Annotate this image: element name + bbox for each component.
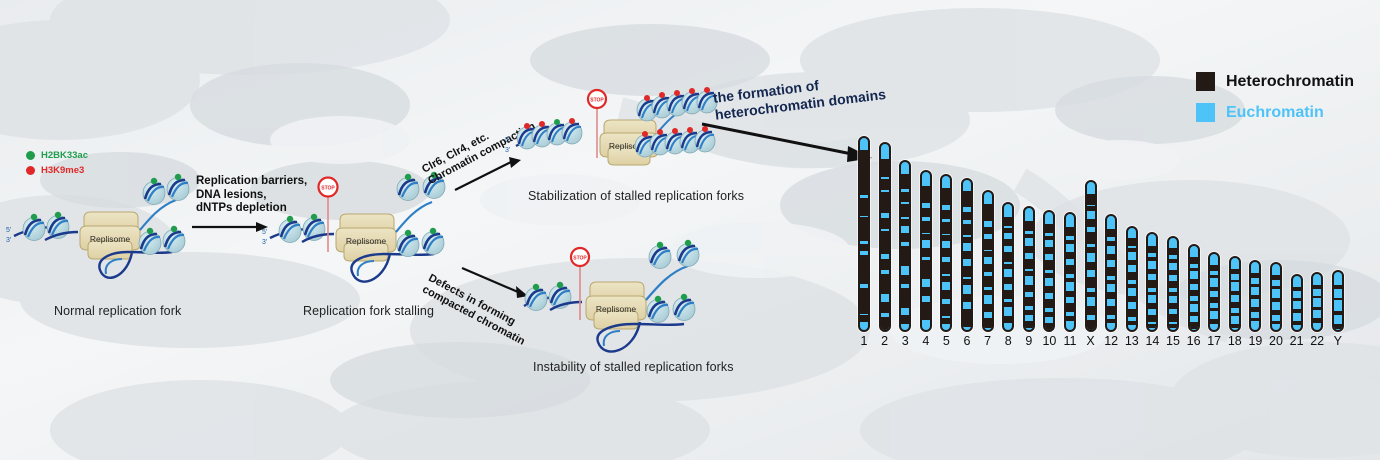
chromosome-band: [881, 205, 889, 212]
chromosome-band: [1045, 286, 1053, 293]
chromosome-band: [1045, 236, 1053, 241]
strand-label-3prime: 3': [262, 239, 267, 246]
chromosome-band: [1087, 306, 1095, 314]
chromosome-band: [1313, 318, 1321, 323]
chromosome-band: [901, 192, 909, 201]
chromosome-band: [1128, 321, 1136, 325]
chromosome-band: [984, 276, 992, 287]
chromosome-body: [1105, 214, 1117, 332]
legend-label-euchromatin: Euchromatin: [1226, 104, 1324, 122]
replisome-label: Replisome: [596, 304, 636, 314]
chromosome-band: [942, 235, 950, 241]
strand-label-5prime: 5': [6, 227, 11, 234]
chromosome-band: [1004, 316, 1012, 323]
chromosome-band: [901, 246, 909, 259]
stop-sign-label: STOP: [590, 98, 604, 104]
chromosome-band: [1210, 275, 1218, 278]
chromosome-body: [961, 178, 973, 332]
chromosome-body: [899, 160, 911, 332]
chromosome-band: [860, 209, 868, 216]
chromosome-band: [1169, 292, 1177, 296]
chromosome-body: [1332, 270, 1344, 332]
chromosome-13[interactable]: 13: [1126, 226, 1138, 332]
chromatin-legend: Heterochromatin Euchromatin: [1196, 72, 1354, 134]
chromosome-band: [922, 197, 930, 203]
panel-instability: STOP Replisome: [518, 238, 733, 363]
strand-label-5prime: 5': [262, 229, 267, 236]
chromosome-band: [1334, 324, 1342, 329]
chromosome-band: [1251, 307, 1259, 312]
chromosome-body: [1085, 180, 1097, 332]
chromosome-band: [1045, 224, 1053, 233]
chromosome-body: [1229, 256, 1241, 332]
chromosome-band: [860, 226, 868, 241]
chromosome-21[interactable]: 21: [1291, 274, 1303, 332]
chromosome-band: [1128, 272, 1136, 280]
chromosome-X[interactable]: X: [1085, 180, 1097, 332]
chromosome-17[interactable]: 17: [1208, 252, 1220, 332]
chromosome-label: 4: [922, 334, 929, 348]
chromosome-band: [1190, 322, 1198, 329]
chromosome-label: 8: [1005, 334, 1012, 348]
chromosome-label: 1: [861, 334, 868, 348]
chromosome-band: [1190, 290, 1198, 297]
chromosome-band: [963, 266, 971, 278]
chromosome-band: [881, 287, 889, 294]
chromosome-band: [901, 275, 909, 284]
chromosome-band: [1045, 247, 1053, 254]
chromosome-body: [1249, 260, 1261, 332]
chromosome-12[interactable]: 12: [1105, 214, 1117, 332]
chromosome-band: [1128, 260, 1136, 266]
chromosome-band: [1025, 234, 1033, 239]
chromosome-band: [1045, 312, 1053, 317]
chromosome-band: [984, 239, 992, 250]
chromosome-band: [1066, 303, 1074, 312]
chromosome-label: 20: [1269, 334, 1283, 348]
chromosome-band: [942, 222, 950, 234]
chromosome-band: [984, 227, 992, 235]
chromosome-label: 14: [1145, 334, 1159, 348]
chromosome-band: [1148, 257, 1156, 261]
chromosome-9[interactable]: 9: [1023, 206, 1035, 332]
chromosome-body: [1043, 210, 1055, 332]
chromosome-band: [942, 248, 950, 257]
chromosome-19[interactable]: 19: [1249, 260, 1261, 332]
chromosome-label: 3: [902, 334, 909, 348]
chromosome-7[interactable]: 7: [982, 190, 994, 332]
chromosome-band: [1004, 277, 1012, 284]
panel-normal-replication-fork: Replisome 5': [0, 160, 200, 290]
chromosome-band: [901, 219, 909, 226]
chromosome-band: [963, 321, 971, 327]
chromosome-band: [1066, 265, 1074, 274]
chromosome-band: [1210, 265, 1218, 271]
chromosome-body: [1002, 202, 1014, 332]
chromosome-band: [922, 208, 930, 217]
chromosome-band: [1107, 280, 1115, 284]
chromosome-body: [858, 136, 870, 332]
chromosome-band: [1272, 321, 1280, 324]
chromosome-band: [1128, 248, 1136, 252]
chromosome-label: 9: [1025, 334, 1032, 348]
chromosome-band: [1210, 287, 1218, 291]
chromosome-band: [1004, 290, 1012, 300]
chromosome-body: [1188, 244, 1200, 332]
chromosome-band: [1045, 273, 1053, 278]
chromosome-band: [1334, 311, 1342, 314]
chromosome-band: [1190, 279, 1198, 284]
chromosome-body: [1064, 212, 1076, 332]
chromosome-band: [963, 309, 971, 321]
chromosome-band: [1107, 319, 1115, 323]
chromosome-band: [1087, 320, 1095, 331]
caption-normal-fork: Normal replication fork: [54, 304, 181, 318]
chromosome-band: [901, 301, 909, 308]
chromosome-band: [1251, 318, 1259, 321]
chromosome-body: [982, 190, 994, 332]
euchromatin-swatch-icon: [1196, 103, 1215, 122]
chromosome-band: [942, 276, 950, 282]
chromosome-band: [1025, 221, 1033, 230]
caption-fork-stalling: Replication fork stalling: [303, 304, 434, 318]
chromosome-band: [1272, 286, 1280, 289]
chromosome-16[interactable]: 16: [1188, 244, 1200, 332]
replisome-shape: Replisome: [586, 282, 646, 329]
chromosome-22[interactable]: 22: [1311, 272, 1323, 332]
chromosome-2[interactable]: 2: [879, 142, 891, 332]
chromosome-band: [1148, 269, 1156, 275]
chromosome-band: [1107, 267, 1115, 276]
chromosome-band: [1087, 292, 1095, 298]
chromosome-band: [1169, 314, 1177, 321]
figure-canvas: H2BK33ac H3K9me3 Heterochromatin Euchrom…: [0, 0, 1380, 460]
chromosome-body: [940, 174, 952, 332]
chromosome-label: 22: [1310, 334, 1324, 348]
chromosome-band: [901, 259, 909, 266]
chromosome-6[interactable]: 6: [961, 178, 973, 332]
chromosome-band: [1148, 280, 1156, 288]
chromosome-band: [922, 221, 930, 233]
chromosome-band: [1004, 252, 1012, 262]
chromosome-band: [1293, 309, 1301, 312]
chromosome-band: [860, 184, 868, 195]
chromosome-band: [1128, 284, 1136, 288]
chromosome-band: [1169, 248, 1177, 255]
chromosome-band: [1025, 271, 1033, 276]
chromosome-band: [984, 264, 992, 272]
chromosome-band: [1148, 315, 1156, 323]
arrow-to-karyotype: [700, 118, 875, 166]
chromosome-band: [1087, 277, 1095, 288]
chromosome-body: [1023, 206, 1035, 332]
chromosome-8[interactable]: 8: [1002, 202, 1014, 332]
chromosome-band: [1210, 319, 1218, 323]
chromosome-band: [860, 244, 868, 251]
chromosome-1[interactable]: 1: [858, 136, 870, 332]
chromosome-band: [901, 233, 909, 242]
caption-stabilization: Stabilization of stalled replication for…: [528, 189, 744, 203]
compacted-nucleosomes-left: [517, 118, 582, 149]
chromosome-band: [1107, 292, 1115, 298]
chromosome-band: [1066, 240, 1074, 245]
chromosome-band: [1272, 275, 1280, 280]
chromosome-band: [1148, 303, 1156, 309]
strand-label-5prime: 5': [505, 137, 510, 144]
chromosome-band: [1293, 321, 1301, 325]
chromosome-Y[interactable]: Y: [1332, 270, 1344, 332]
stop-sign-label: STOP: [573, 256, 587, 262]
chromosome-band: [1025, 310, 1033, 315]
chromosome-band: [1087, 247, 1095, 253]
chromosome-body: [1291, 274, 1303, 332]
chromosome-band: [881, 218, 889, 228]
chromosome-body: [1208, 252, 1220, 332]
chromosome-band: [1169, 259, 1177, 263]
chromosome-band: [984, 204, 992, 215]
legend-item-euchromatin: Euchromatin: [1196, 103, 1354, 122]
green-circle-icon: [26, 151, 35, 160]
chromosome-band: [1066, 252, 1074, 259]
chromosome-band: [860, 276, 868, 283]
chromosome-band: [1087, 219, 1095, 227]
chromosome-band: [984, 215, 992, 220]
chromosome-label: 10: [1042, 334, 1056, 348]
chromosome-band: [963, 224, 971, 236]
chromosome-band: [860, 315, 868, 322]
chromosome-band: [881, 231, 889, 245]
chromosome-band: [1251, 273, 1259, 278]
chromosome-band: [1231, 313, 1239, 316]
chromosome-band: [1293, 298, 1301, 300]
chromosome-18[interactable]: 18: [1229, 256, 1241, 332]
chromosome-band: [860, 299, 868, 314]
chromosome-label: 16: [1187, 334, 1201, 348]
chromosome-10[interactable]: 10: [1043, 210, 1055, 332]
chromosome-band: [922, 302, 930, 314]
chromosome-label: Y: [1334, 334, 1342, 348]
chromosome-band: [1066, 291, 1074, 298]
chromosome-band: [1190, 268, 1198, 271]
chromosome-band: [1025, 246, 1033, 253]
chromosome-band: [1025, 285, 1033, 292]
chromosome-band: [881, 302, 889, 312]
chromosome-label: X: [1086, 334, 1094, 348]
chromosome-band: [1190, 312, 1198, 317]
chromosome-band: [901, 288, 909, 301]
chromosome-band: [984, 318, 992, 329]
chromosome-body: [1270, 262, 1282, 332]
chromosome-band: [1004, 264, 1012, 269]
chromosome-band: [1313, 296, 1321, 298]
chromosome-band: [860, 176, 868, 183]
chromosome-band: [1231, 324, 1239, 328]
chromosome-band: [1025, 297, 1033, 306]
chromosome-20[interactable]: 20: [1270, 262, 1282, 332]
chromosome-band: [860, 288, 868, 299]
chromosome-band: [1107, 306, 1115, 315]
chromosome-label: 19: [1248, 334, 1262, 348]
chromosome-band: [1210, 308, 1218, 311]
chromosome-5[interactable]: 5: [940, 174, 952, 332]
chromosome-band: [901, 182, 909, 189]
chromosome-band: [1210, 297, 1218, 303]
chromosome-band: [1004, 239, 1012, 246]
compacted-nucleosomes-upper-right: [637, 87, 717, 121]
chromosome-band: [1004, 302, 1012, 307]
chromosome-band: [942, 318, 950, 324]
chromosome-label: 5: [943, 334, 950, 348]
chromosome-band: [1066, 278, 1074, 283]
chromosome-band: [1231, 302, 1239, 308]
chromosome-band: [1272, 310, 1280, 315]
chromosome-band: [881, 246, 889, 253]
panel-stabilization: STOP Replisome 5' 3': [500, 78, 725, 198]
chromosome-band: [922, 248, 930, 257]
chromosome-band: [1128, 296, 1136, 302]
chromosome-band: [1066, 227, 1074, 236]
chromosome-label: 21: [1290, 334, 1304, 348]
chromosome-band: [922, 287, 930, 296]
chromosome-band: [1231, 291, 1239, 295]
chromosome-band: [1251, 284, 1259, 287]
chromosome-label: 13: [1125, 334, 1139, 348]
replisome-label: Replisome: [346, 236, 386, 246]
chromosome-band: [1334, 285, 1342, 290]
chromosome-band: [963, 251, 971, 259]
chromosome-band: [881, 170, 889, 177]
chromosome-3[interactable]: 3: [899, 160, 911, 332]
strand-label-3prime: 3': [6, 237, 11, 244]
chromosome-label: 18: [1228, 334, 1242, 348]
chromosome-band: [1128, 238, 1136, 246]
legend-label-heterochromatin: Heterochromatin: [1226, 73, 1354, 91]
chromosome-band: [984, 251, 992, 256]
chromosome-label: 11: [1064, 334, 1077, 348]
heterochromatin-swatch-icon: [1196, 72, 1215, 91]
chromosome-band: [922, 273, 930, 279]
chromosome-body: [1126, 226, 1138, 332]
chromosome-band: [1293, 287, 1301, 291]
chromosome-14[interactable]: 14: [1146, 232, 1158, 332]
chromosome-band: [963, 294, 971, 302]
chromosome-band: [1169, 324, 1177, 328]
chromosome-band: [942, 304, 950, 316]
chromosome-band: [1313, 307, 1321, 310]
chromosome-band: [963, 279, 971, 285]
chromosome-label: 6: [964, 334, 971, 348]
chromosome-band: [1087, 232, 1095, 243]
stop-sign-icon: STOP: [319, 178, 338, 253]
chromosome-band: [1148, 292, 1156, 296]
chromosome-band: [901, 204, 909, 217]
chromosome-band: [1045, 299, 1053, 308]
chromosome-band: [1066, 316, 1074, 321]
chromosome-band: [984, 304, 992, 312]
chromosome-band: [922, 234, 930, 240]
stop-sign-label: STOP: [321, 186, 335, 192]
chromosome-band: [1045, 323, 1053, 330]
chromosome-band: [1231, 280, 1239, 283]
chromosome-band: [963, 201, 971, 207]
chromosome-body: [879, 142, 891, 332]
chromosome-band: [963, 212, 971, 220]
chromosome-band: [1190, 301, 1198, 304]
chromosome-label: 17: [1207, 334, 1221, 348]
chromosome-band: [942, 290, 950, 299]
chromosome-band: [942, 199, 950, 205]
strand-label-3prime: 3': [505, 147, 510, 154]
chromosome-15[interactable]: 15: [1167, 236, 1179, 332]
chromosome-band: [881, 317, 889, 331]
chromosome-band: [1334, 298, 1342, 300]
chromosome-label: 7: [984, 334, 991, 348]
chromosome-label: 15: [1166, 334, 1180, 348]
chromosome-body: [1311, 272, 1323, 332]
chromosome-band: [901, 315, 909, 324]
chromosome-11[interactable]: 11: [1064, 212, 1076, 332]
chromosome-band: [922, 314, 930, 320]
chromosome-band: [881, 259, 889, 269]
chromosome-band: [1190, 257, 1198, 264]
chromosome-band: [1107, 229, 1115, 238]
chromosome-band: [1107, 254, 1115, 260]
chromosome-band: [1004, 228, 1012, 233]
karyotype-ideogram: 1234567891011X1213141516171819202122Y: [858, 128, 1358, 358]
chromosome-band: [1251, 295, 1259, 299]
chromosome-band: [1087, 206, 1095, 212]
chromosome-band: [1169, 303, 1177, 308]
chromosome-band: [1045, 260, 1053, 269]
caption-instability: Instability of stalled replication forks: [533, 360, 734, 374]
chromosome-band: [1087, 194, 1095, 205]
chromosome-body: [920, 170, 932, 332]
chromosome-band: [1004, 217, 1012, 227]
chromosome-band: [1025, 321, 1033, 328]
chromosome-band: [963, 237, 971, 243]
chromosome-band: [1148, 246, 1156, 254]
nucleosome-group-parental: [23, 212, 69, 241]
chromosome-body: [1146, 232, 1158, 332]
arrow-normal-to-stalling: [192, 218, 268, 236]
chromosome-4[interactable]: 4: [920, 170, 932, 332]
replisome-label: Replisome: [90, 234, 130, 244]
legend-item-heterochromatin: Heterochromatin: [1196, 72, 1354, 91]
chromosome-band: [1087, 262, 1095, 270]
chromosome-band: [1025, 259, 1033, 268]
chromosome-band: [1272, 298, 1280, 302]
chromosome-band: [1231, 269, 1239, 275]
chromosome-band: [1169, 270, 1177, 275]
chromosome-band: [881, 179, 889, 189]
chromosome-band: [1107, 241, 1115, 245]
chromosome-band: [1169, 281, 1177, 288]
chromosome-band: [1313, 285, 1321, 290]
chromosome-label: 2: [881, 334, 888, 348]
chromosome-band: [984, 290, 992, 295]
chromosome-band: [1148, 324, 1156, 328]
chromosome-band: [1128, 309, 1136, 317]
chromosome-label: 12: [1104, 334, 1118, 348]
chromosome-body: [1167, 236, 1179, 332]
chromosome-band: [942, 210, 950, 219]
chromosome-band: [922, 260, 930, 272]
chromosome-band: [942, 262, 950, 274]
